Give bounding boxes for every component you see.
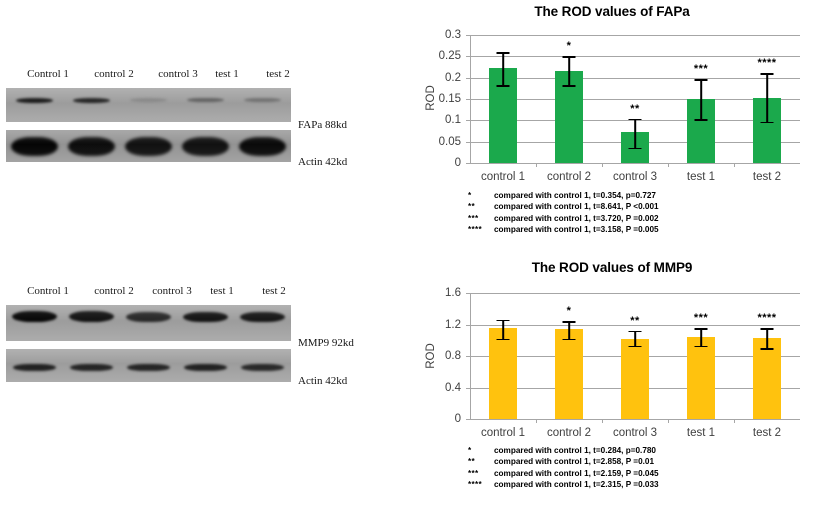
error-bar	[700, 328, 702, 345]
blot-band	[183, 312, 229, 323]
footnote-text: compared with control 1, t=0.284, p=0.78…	[494, 446, 656, 455]
footnote-marker: ****	[468, 479, 494, 490]
blot-gel-mmp9-target	[6, 305, 291, 341]
footnote-row: ****compared with control 1, t=2.315, P …	[468, 479, 808, 490]
x-tick-label: control 2	[547, 171, 591, 183]
y-axis	[470, 293, 471, 419]
y-tick-label: 0.4	[445, 382, 461, 394]
x-tick-label: control 1	[481, 427, 525, 439]
error-bar-cap-bottom	[695, 346, 708, 348]
y-axis-label-fapa: ROD	[425, 85, 437, 111]
gridline	[470, 56, 800, 57]
x-tick-label: test 1	[687, 171, 715, 183]
y-tick-label: 0	[455, 157, 461, 169]
footnote-text: compared with control 1, t=2.315, P =0.0…	[494, 480, 659, 489]
blot-band	[16, 98, 54, 103]
plot-area-mmp9: 00.40.81.21.6control 1*control 2**contro…	[470, 293, 800, 419]
y-tick-label: 0.15	[439, 93, 461, 105]
footnote-text: compared with control 1, t=2.159, P =0.0…	[494, 469, 659, 478]
error-bar	[700, 79, 702, 119]
error-bar-cap-top	[695, 328, 708, 330]
blot-band	[13, 364, 56, 372]
blot-row-label-mmp9: MMP9 92kd	[298, 337, 354, 349]
error-bar-cap-bottom	[563, 85, 576, 87]
x-tick-label: test 2	[753, 171, 781, 183]
error-bar-cap-bottom	[629, 148, 642, 150]
error-bar	[568, 321, 570, 338]
significance-marker: **	[630, 315, 640, 327]
error-bar-cap-top	[497, 52, 510, 54]
x-tick-label: control 1	[481, 171, 525, 183]
blot-band	[70, 364, 113, 372]
y-axis	[470, 35, 471, 163]
error-bar-cap-bottom	[695, 119, 708, 121]
x-tick-label: test 1	[687, 427, 715, 439]
error-bar-cap-bottom	[629, 346, 642, 348]
error-bar-cap-top	[629, 119, 642, 121]
blot-lane-label-row-mmp9: Control 1 control 2 control 3 test 1 tes…	[0, 285, 290, 303]
y-tick-label: 0	[455, 413, 461, 425]
error-bar-cap-top	[695, 79, 708, 81]
x-tick-label: control 3	[613, 427, 657, 439]
significance-marker: ***	[694, 312, 708, 324]
blot-band	[12, 311, 58, 322]
blot-gel-fapa-target	[6, 88, 291, 122]
error-bar-cap-top	[563, 56, 576, 58]
footnote-text: compared with control 1, t=3.158, P =0.0…	[494, 225, 659, 234]
blot-lane-label-row-fapa: Control 1 control 2 control 3 test 1 tes…	[0, 68, 290, 86]
significance-marker: ***	[694, 63, 708, 75]
blot-lane-label: control 2	[94, 285, 133, 297]
y-tick-label: 0.3	[445, 29, 461, 41]
error-bar-cap-top	[629, 331, 642, 333]
significance-marker: **	[630, 103, 640, 115]
chart-title-fapa: The ROD values of FAPa	[408, 4, 816, 19]
error-bar-cap-bottom	[563, 339, 576, 341]
significance-marker: ****	[757, 312, 776, 324]
x-axis	[470, 163, 800, 164]
x-axis	[470, 419, 800, 420]
error-bar-cap-top	[497, 320, 510, 322]
chart-fapa: The ROD values of FAPa 00.050.10.150.20.…	[408, 0, 816, 250]
footnote-row: *compared with control 1, t=0.284, p=0.7…	[468, 445, 808, 456]
blot-lane-label: control 3	[158, 68, 197, 80]
significance-marker: ****	[757, 57, 776, 69]
significance-marker: *	[567, 40, 572, 52]
y-tick-label: 0.1	[445, 114, 461, 126]
error-bar	[568, 56, 570, 85]
error-bar-cap-top	[761, 73, 774, 75]
blot-band	[187, 98, 225, 102]
gridline	[470, 99, 800, 100]
blot-band	[241, 364, 284, 371]
y-tick-label: 1.6	[445, 287, 461, 299]
footnote-marker: ***	[468, 468, 494, 479]
blot-row-label-actin-bottom: Actin 42kd	[298, 375, 347, 387]
chart-title-mmp9: The ROD values of MMP9	[408, 260, 816, 275]
blot-band	[240, 312, 286, 323]
footnote-marker: *	[468, 190, 494, 201]
footnote-text: compared with control 1, t=3.720, P =0.0…	[494, 214, 659, 223]
error-bar-cap-top	[761, 328, 774, 330]
error-bar-cap-top	[563, 321, 576, 323]
blot-band	[126, 312, 172, 322]
footnotes-fapa: *compared with control 1, t=0.354, p=0.7…	[468, 190, 808, 236]
blot-lane-label: test 1	[210, 285, 234, 297]
blot-lane-label: Control 1	[27, 68, 69, 80]
blot-lane-label: control 3	[152, 285, 191, 297]
y-tick-label: 0.25	[439, 50, 461, 62]
gridline	[470, 35, 800, 36]
footnote-marker: ***	[468, 213, 494, 224]
footnote-row: *compared with control 1, t=0.354, p=0.7…	[468, 190, 808, 201]
blot-lane-label: control 2	[94, 68, 133, 80]
blot-band	[130, 98, 168, 102]
error-bar	[502, 52, 504, 85]
footnote-row: ***compared with control 1, t=2.159, P =…	[468, 468, 808, 479]
x-tick-label: test 2	[753, 427, 781, 439]
x-tick-label: control 3	[613, 171, 657, 183]
blot-lane-label: test 2	[266, 68, 290, 80]
gridline	[470, 293, 800, 294]
footnote-text: compared with control 1, t=8.641, P <0.0…	[494, 202, 659, 211]
bar	[753, 338, 781, 419]
blot-gel-mmp9-actin	[6, 349, 291, 382]
footnote-row: ****compared with control 1, t=3.158, P …	[468, 224, 808, 235]
blot-band	[11, 137, 58, 156]
error-bar-cap-bottom	[497, 85, 510, 87]
blot-band	[69, 311, 115, 322]
blot-band	[184, 364, 227, 372]
bar	[687, 337, 715, 419]
error-bar-cap-bottom	[761, 122, 774, 124]
error-bar	[634, 331, 636, 346]
western-blot-mmp9: Control 1 control 2 control 3 test 1 tes…	[0, 285, 400, 395]
y-tick-label: 0.05	[439, 136, 461, 148]
blot-row-label-actin-top: Actin 42kd	[298, 156, 347, 168]
footnote-marker: **	[468, 201, 494, 212]
blot-lane-label: test 1	[215, 68, 239, 80]
footnote-row: ***compared with control 1, t=3.720, P =…	[468, 213, 808, 224]
error-bar	[634, 119, 636, 148]
y-tick-label: 1.2	[445, 319, 461, 331]
blot-lane-label: Control 1	[27, 285, 69, 297]
gridline	[470, 78, 800, 79]
significance-marker: *	[567, 305, 572, 317]
blot-lane-label: test 2	[262, 285, 286, 297]
blot-band	[68, 137, 115, 156]
footnote-marker: *	[468, 445, 494, 456]
blot-band	[182, 137, 229, 156]
blot-band	[244, 98, 282, 102]
error-bar	[502, 320, 504, 339]
blot-gel-fapa-actin	[6, 130, 291, 162]
chart-mmp9: The ROD values of MMP9 00.40.81.21.6cont…	[408, 255, 816, 505]
y-axis-label-mmp9: ROD	[425, 343, 437, 369]
y-tick-label: 0.2	[445, 72, 461, 84]
footnote-marker: **	[468, 456, 494, 467]
bar	[555, 329, 583, 419]
footnotes-mmp9: *compared with control 1, t=0.284, p=0.7…	[468, 445, 808, 491]
error-bar	[766, 73, 768, 121]
blot-band	[127, 364, 170, 372]
error-bar-cap-bottom	[761, 348, 774, 350]
blot-row-label-fapa: FAPa 88kd	[298, 119, 347, 131]
y-tick-label: 0.8	[445, 350, 461, 362]
footnote-text: compared with control 1, t=2.858, P =0.0…	[494, 457, 654, 466]
footnote-row: **compared with control 1, t=8.641, P <0…	[468, 201, 808, 212]
blot-band	[125, 137, 172, 156]
error-bar	[766, 328, 768, 348]
footnote-row: **compared with control 1, t=2.858, P =0…	[468, 456, 808, 467]
footnote-marker: ****	[468, 224, 494, 235]
western-blot-fapa: Control 1 control 2 control 3 test 1 tes…	[0, 68, 400, 173]
x-tick-label: control 2	[547, 427, 591, 439]
error-bar-cap-bottom	[497, 339, 510, 341]
bar	[621, 339, 649, 419]
blot-band	[239, 137, 286, 156]
footnote-text: compared with control 1, t=0.354, p=0.72…	[494, 191, 656, 200]
bar	[489, 328, 517, 419]
blot-band	[73, 98, 111, 103]
plot-area-fapa: 00.050.10.150.20.250.3control 1*control …	[470, 35, 800, 163]
